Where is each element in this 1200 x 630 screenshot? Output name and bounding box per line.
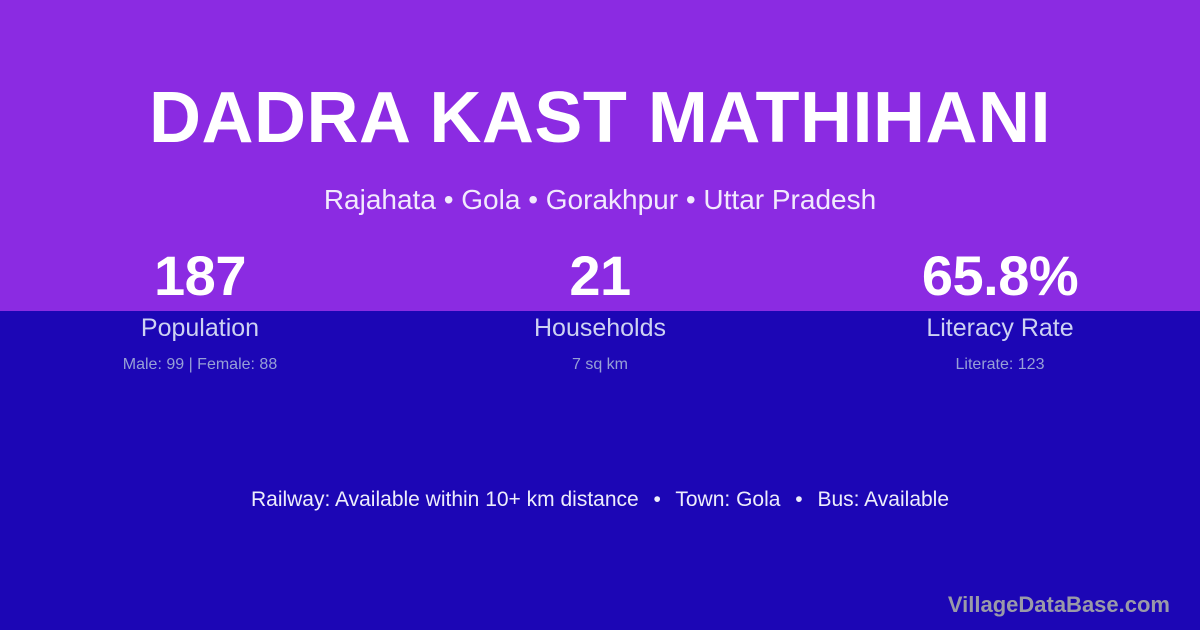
stat-households-value: 21	[400, 243, 800, 309]
stats-row: 187 Population Male: 99 | Female: 88 21 …	[0, 243, 1200, 377]
stat-population-breakdown: Male: 99 | Female: 88	[0, 353, 400, 377]
amenity-bus: Bus: Available	[817, 488, 949, 511]
stat-population-value: 187	[0, 243, 400, 309]
stat-literacy: 65.8% Literacy Rate Literate: 123	[800, 243, 1200, 377]
stat-literacy-count: Literate: 123	[800, 353, 1200, 377]
stat-households-label: Households	[400, 311, 800, 345]
amenity-railway: Railway: Available within 10+ km distanc…	[251, 488, 639, 511]
stat-population-label: Population	[0, 311, 400, 345]
brand-watermark: VillageDataBase.com	[948, 590, 1170, 620]
amenity-town: Town: Gola	[675, 488, 780, 511]
amenity-separator-dot: •	[645, 486, 670, 514]
location-breadcrumb: Rajahata • Gola • Gorakhpur • Uttar Prad…	[0, 182, 1200, 218]
stat-population: 187 Population Male: 99 | Female: 88	[0, 243, 400, 377]
village-info-card: DADRA KAST MATHIHANI Rajahata • Gola • G…	[0, 0, 1200, 630]
stat-literacy-value: 65.8%	[800, 243, 1200, 309]
amenities-summary: Railway: Available within 10+ km distanc…	[0, 486, 1200, 514]
stat-households: 21 Households 7 sq km	[400, 243, 800, 377]
stat-literacy-label: Literacy Rate	[800, 311, 1200, 345]
amenity-separator-dot: •	[786, 486, 811, 514]
stat-households-area: 7 sq km	[400, 353, 800, 377]
page-title: DADRA KAST MATHIHANI	[0, 82, 1200, 154]
